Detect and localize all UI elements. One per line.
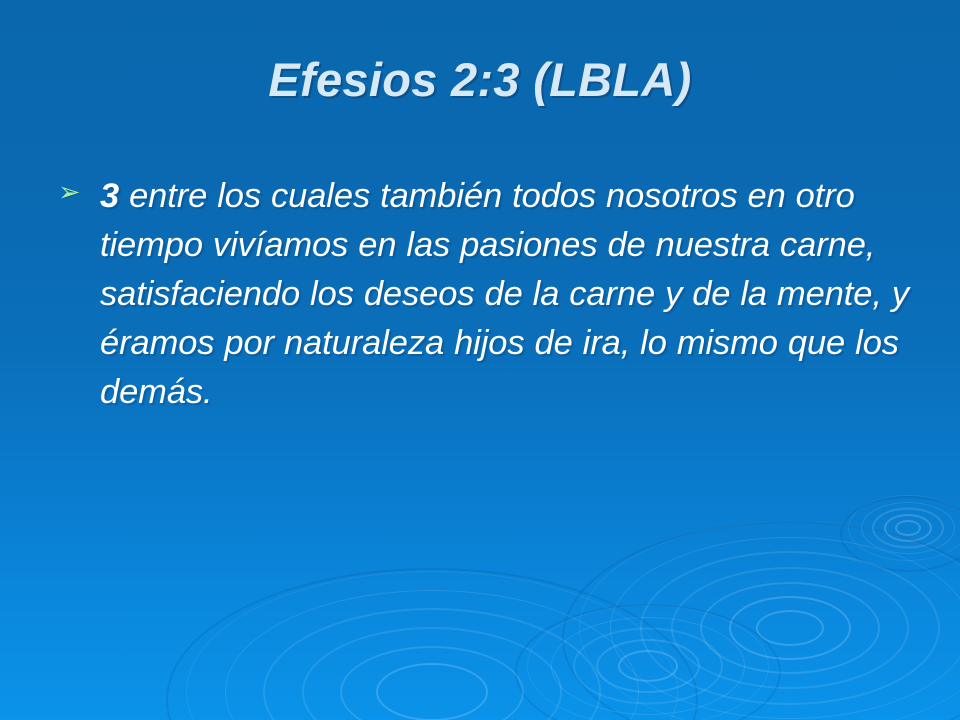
ripple-ring	[729, 596, 851, 660]
ripple-ring	[263, 608, 601, 720]
ripple-ring	[579, 521, 960, 720]
ripple-ring	[225, 590, 639, 720]
ripple-ring	[848, 495, 960, 561]
ripple-ring	[640, 551, 940, 705]
ripple-ring	[527, 605, 769, 720]
ripple-ring	[340, 646, 524, 720]
verse-number: 3	[100, 177, 119, 215]
arrowhead-bullet-icon: ➢	[58, 177, 88, 207]
ripple-ring	[610, 537, 960, 719]
ripple-ring	[596, 639, 700, 693]
ripple-ring	[872, 508, 944, 549]
ripple-ring	[186, 571, 678, 720]
list-item: ➢ 3 entre los cuales también todos nosot…	[56, 172, 936, 417]
slide-title: Efesios 2:3 (LBLA)	[0, 52, 960, 107]
ripple-ring	[618, 650, 678, 682]
ripple-ring	[562, 521, 960, 720]
ripple-ring	[376, 663, 488, 720]
ripple-ring	[573, 628, 723, 705]
ripple-ring	[302, 627, 562, 720]
ripple-ring	[756, 610, 824, 646]
ripple-ring	[895, 520, 921, 536]
verse-text: 3 entre los cuales también todos nosotro…	[100, 172, 936, 417]
ripple-ring	[700, 582, 880, 674]
ripple-ring	[166, 568, 698, 720]
ripple-ring	[840, 496, 960, 572]
ripple-ring	[884, 514, 932, 542]
ripple-ring	[671, 567, 909, 689]
ripple-ring	[861, 502, 955, 554]
verse-body: entre los cuales también todos nosotros …	[100, 177, 909, 411]
slide-body: ➢ 3 entre los cuales también todos nosot…	[56, 172, 936, 417]
ripple-ring	[551, 617, 745, 715]
slide-canvas: Efesios 2:3 (LBLA) ➢ 3 entre los cuales …	[0, 0, 960, 720]
ripple-ring	[515, 604, 781, 720]
